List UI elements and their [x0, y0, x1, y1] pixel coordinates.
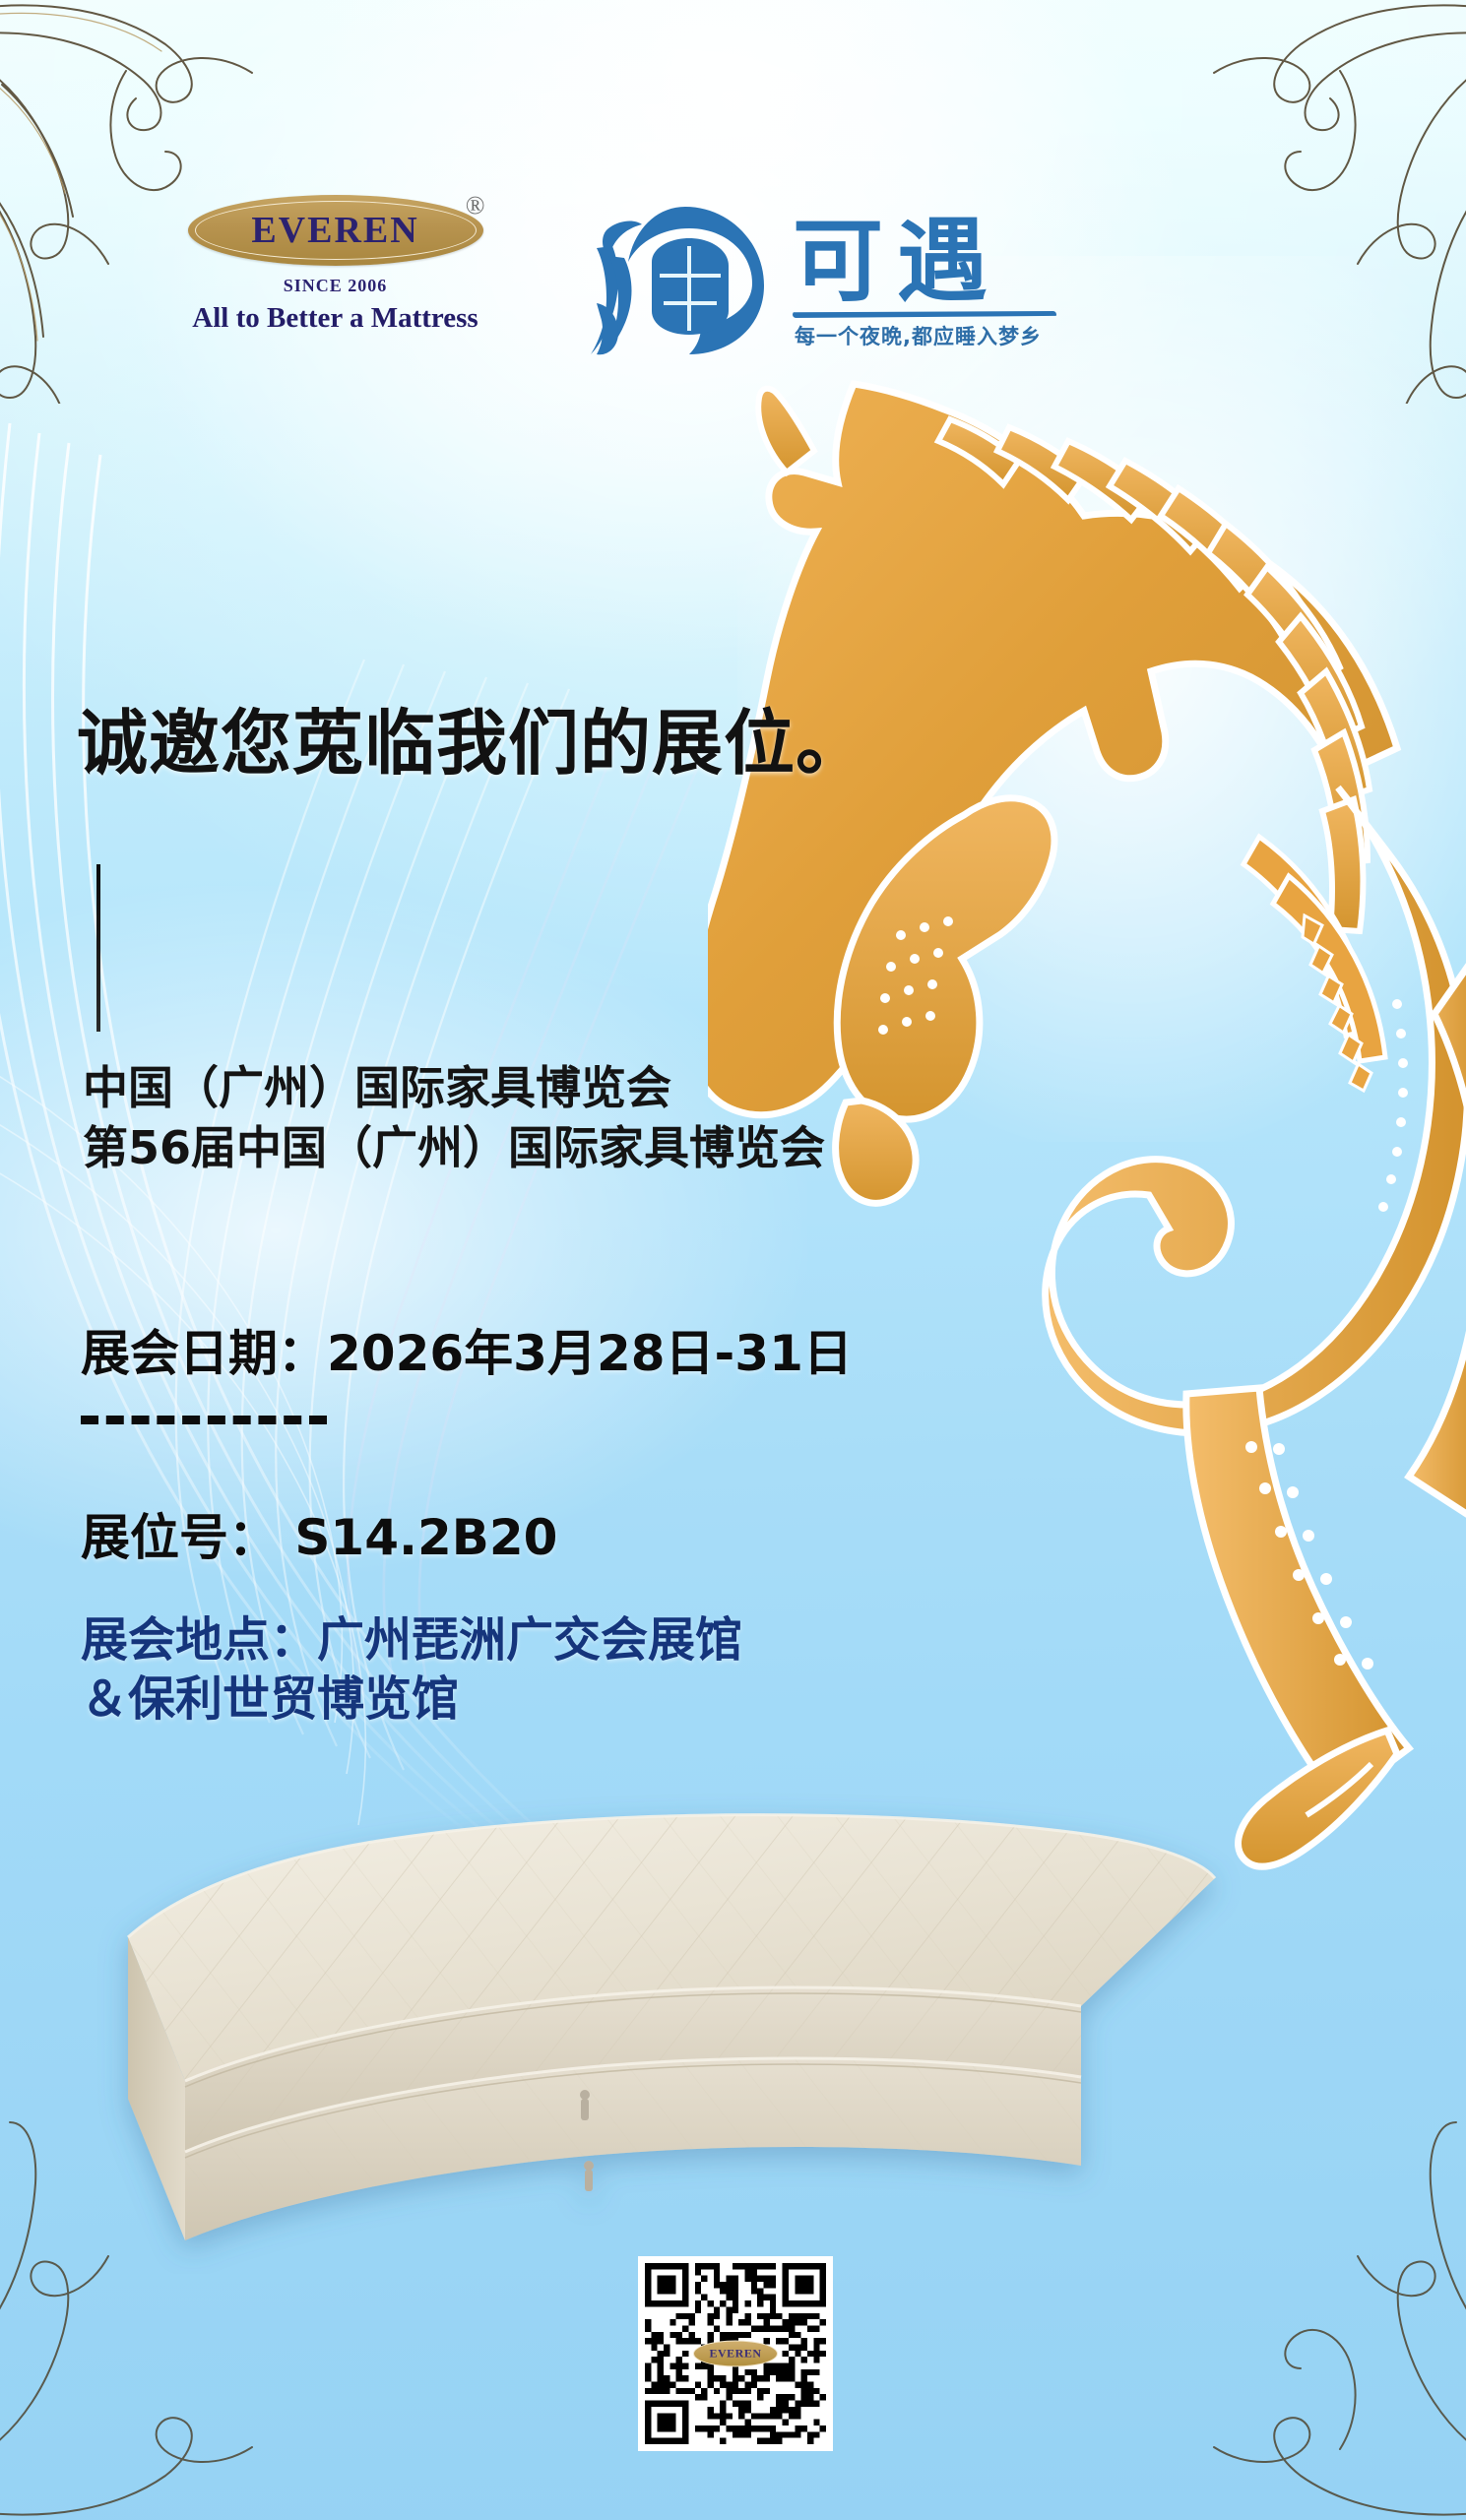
mid-glow	[0, 886, 807, 1575]
event-name-line-2: 第56届中国（广州）国际家具博览会	[83, 1118, 825, 1178]
keyu-logo[interactable]: 可遇 每一个夜晩,都应睡入梦乡	[591, 201, 1053, 398]
everen-wordmark: EVEREN	[188, 195, 483, 266]
event-name-line-1: 中国（广州）国际家具博览会	[83, 1058, 825, 1118]
event-name-block: 中国（广州）国际家具博览会 第56届中国（广州）国际家具博览会	[83, 1058, 825, 1177]
keyu-sleeping-figure-icon	[591, 201, 778, 358]
venue-block: 展会地点：广州琵洲广交会展馆 ＆保利世贸博览馆	[81, 1610, 742, 1729]
qr-center-label: EVEREN	[709, 2347, 761, 2362]
brand-logo-row: EVEREN ® SINCE 2006 All to Better a Matt…	[0, 195, 1466, 411]
venue-line-1: 展会地点：广州琵洲广交会展馆	[81, 1610, 742, 1669]
qr-code-canvas: EVEREN	[645, 2263, 826, 2444]
booth-number: 展位号： S14.2B20	[81, 1498, 557, 1569]
dashed-divider	[81, 1416, 327, 1424]
qr-center-logo: EVEREN	[693, 2341, 778, 2367]
keyu-name: 可遇	[793, 217, 1001, 307]
qr-code[interactable]: EVEREN	[638, 2256, 833, 2451]
keyu-tagline: 每一个夜晩,都应睡入梦乡	[795, 321, 1042, 350]
everen-tagline: All to Better a Mattress	[165, 302, 505, 335]
event-date: 展会日期：2026年3月28日-31日	[81, 1314, 853, 1385]
exhibition-invitation-poster: EVEREN ® SINCE 2006 All to Better a Matt…	[0, 0, 1466, 2520]
everen-oval-badge: EVEREN ®	[188, 195, 483, 266]
registered-trademark-icon: ®	[466, 191, 485, 220]
quilted-mattress-product-photo-icon	[37, 1752, 1248, 2274]
page-title: 诚邀您莵临我们的展位。	[77, 707, 867, 782]
everen-logo[interactable]: EVEREN ® SINCE 2006 All to Better a Matt…	[165, 195, 505, 335]
venue-line-2: ＆保利世贸博览馆	[81, 1669, 742, 1729]
vertical-divider	[96, 864, 100, 1032]
everen-since-text: SINCE 2006	[165, 276, 505, 296]
